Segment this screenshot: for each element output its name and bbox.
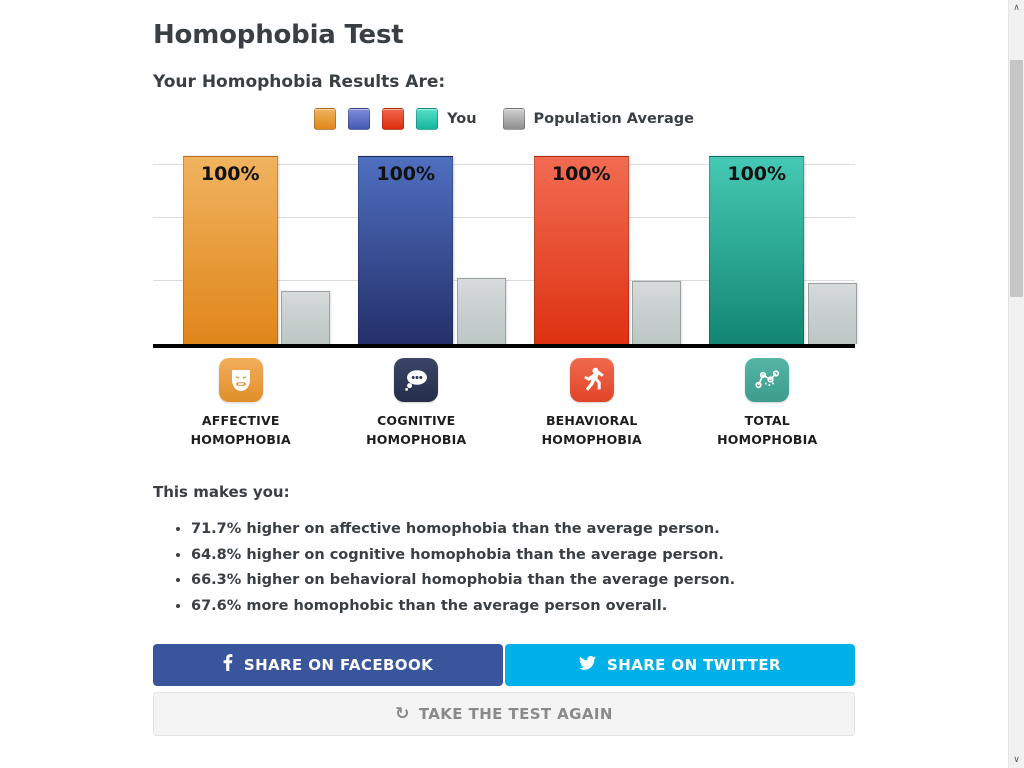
take-test-again-button[interactable]: ↻ TAKE THE TEST AGAIN	[153, 692, 855, 736]
finding-item: 66.3% higher on behavioral homophobia th…	[191, 568, 855, 594]
page-title: Homophobia Test	[153, 0, 855, 50]
category-label-line1: COGNITIVE	[377, 413, 455, 428]
legend-swatch-total	[416, 108, 438, 130]
content-column: Homophobia Test Your Homophobia Results …	[153, 0, 855, 736]
category-icon-row: AFFECTIVEHOMOPHOBIACOGNITIVEHOMOPHOBIABE…	[153, 358, 855, 450]
category-label: COGNITIVEHOMOPHOBIA	[329, 411, 505, 450]
chart-baseline-axis	[153, 344, 855, 348]
legend-swatch-affective	[314, 108, 336, 130]
facebook-f-icon	[223, 654, 233, 675]
results-heading: Your Homophobia Results Are:	[153, 50, 855, 92]
share-button-row: SHARE ON FACEBOOK SHARE ON TWITTER	[153, 644, 855, 686]
share-on-facebook-label: SHARE ON FACEBOOK	[244, 656, 433, 674]
scroll-up-arrow-icon[interactable]: ∧	[1009, 0, 1024, 16]
bar-value-label: 100%	[184, 163, 277, 185]
page-root: Homophobia Test Your Homophobia Results …	[0, 0, 1024, 768]
category-item: TOTALHOMOPHOBIA	[680, 358, 856, 450]
legend-label-you: You	[447, 111, 476, 127]
share-on-twitter-label: SHARE ON TWITTER	[607, 656, 781, 674]
bar-value-label: 100%	[710, 163, 803, 185]
chart-group: 100%	[504, 156, 680, 344]
category-label-line1: AFFECTIVE	[202, 413, 280, 428]
bar-value-label: 100%	[535, 163, 628, 185]
finding-item: 71.7% higher on affective homophobia tha…	[191, 517, 855, 543]
summary-heading: This makes you:	[153, 450, 855, 501]
bar-value-label: 100%	[359, 163, 452, 185]
network-graph-icon	[745, 358, 789, 402]
category-label-line2: HOMOPHOBIA	[717, 432, 817, 447]
category-label-line1: TOTAL	[745, 413, 790, 428]
category-label: BEHAVIORALHOMOPHOBIA	[504, 411, 680, 450]
legend-label-population-average: Population Average	[534, 111, 694, 127]
bar-population-average	[281, 291, 330, 344]
chart-group: 100%	[153, 156, 329, 344]
category-label: TOTALHOMOPHOBIA	[680, 411, 856, 450]
bar-population-average	[632, 281, 681, 344]
category-label-line2: HOMOPHOBIA	[191, 432, 291, 447]
legend-swatch-population-average	[503, 108, 525, 130]
scroll-down-arrow-icon[interactable]: ∨	[1009, 752, 1024, 768]
vertical-scrollbar[interactable]: ∧ ∨	[1008, 0, 1024, 768]
bar-you: 100%	[709, 156, 804, 344]
refresh-icon: ↻	[395, 704, 410, 724]
bar-you: 100%	[534, 156, 629, 344]
take-test-again-label: TAKE THE TEST AGAIN	[419, 705, 613, 723]
category-label-line2: HOMOPHOBIA	[542, 432, 642, 447]
bar-you: 100%	[183, 156, 278, 344]
theater-mask-icon	[219, 358, 263, 402]
bar-you: 100%	[358, 156, 453, 344]
chart-legend: You Population Average	[153, 92, 855, 122]
bar-population-average	[808, 283, 857, 344]
scrollbar-thumb[interactable]	[1010, 60, 1023, 297]
findings-list: 71.7% higher on affective homophobia tha…	[153, 517, 855, 620]
category-label-line2: HOMOPHOBIA	[366, 432, 466, 447]
running-person-icon	[570, 358, 614, 402]
finding-item: 64.8% higher on cognitive homophobia tha…	[191, 543, 855, 569]
share-on-twitter-button[interactable]: SHARE ON TWITTER	[505, 644, 855, 686]
category-label-line1: BEHAVIORAL	[546, 413, 638, 428]
finding-item: 67.6% more homophobic than the average p…	[191, 594, 855, 620]
category-item: BEHAVIORALHOMOPHOBIA	[504, 358, 680, 450]
legend-swatch-cognitive	[348, 108, 370, 130]
twitter-bird-icon	[579, 656, 596, 674]
results-bar-chart: 100%100%100%100%	[153, 156, 855, 348]
bar-population-average	[457, 278, 506, 344]
category-item: AFFECTIVEHOMOPHOBIA	[153, 358, 329, 450]
category-item: COGNITIVEHOMOPHOBIA	[329, 358, 505, 450]
chart-group: 100%	[680, 156, 856, 344]
category-label: AFFECTIVEHOMOPHOBIA	[153, 411, 329, 450]
legend-swatch-behavioral	[382, 108, 404, 130]
share-on-facebook-button[interactable]: SHARE ON FACEBOOK	[153, 644, 503, 686]
chart-bar-groups: 100%100%100%100%	[153, 156, 855, 344]
thought-bubble-icon	[394, 358, 438, 402]
chart-group: 100%	[329, 156, 505, 344]
